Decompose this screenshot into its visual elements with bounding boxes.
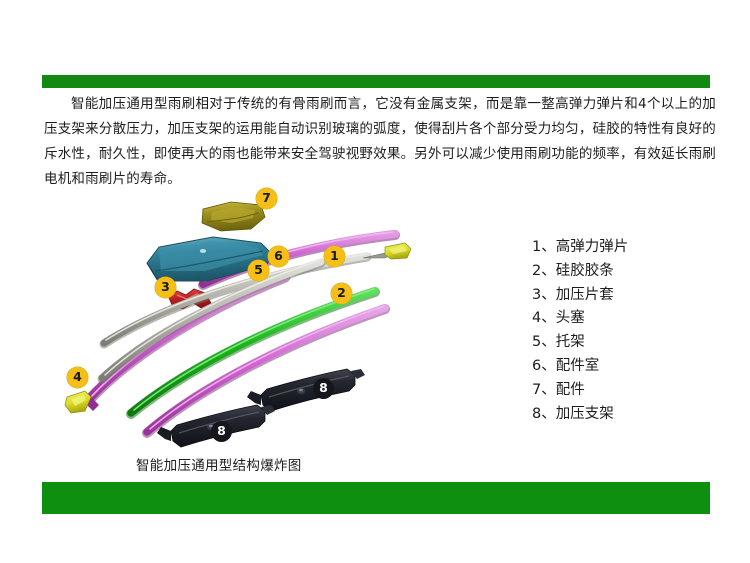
callout-badge-3[interactable]: 3 (155, 277, 176, 298)
callout-badge-6[interactable]: 6 (268, 246, 289, 267)
legend-item-5: 5、托架 (532, 331, 722, 355)
legend-label-8: 加压支架 (556, 406, 614, 422)
legend-item-1: 1、高弹力弹片 (532, 236, 722, 260)
legend-label-4: 头塞 (556, 310, 585, 326)
callout-badge-4[interactable]: 4 (67, 367, 88, 388)
callout-badge-2[interactable]: 2 (331, 283, 352, 304)
callout-badge-5[interactable]: 5 (248, 260, 269, 281)
callout-badge-1[interactable]: 1 (324, 246, 345, 267)
legend-number-3: 3、 (532, 287, 556, 303)
part-end-plug-right (385, 243, 411, 259)
legend-item-2: 2、硅胶胶条 (532, 260, 722, 284)
legend-label-3: 加压片套 (556, 287, 614, 303)
diagram-caption: 智能加压通用型结构爆炸图 (136, 454, 302, 474)
callout-badge-8-lower[interactable]: 8 (211, 421, 232, 442)
legend-number-8: 8、 (532, 406, 556, 422)
legend-item-7: 7、配件 (532, 379, 722, 403)
legend-label-5: 托架 (556, 334, 585, 350)
legend-number-1: 1、 (532, 239, 556, 255)
legend-label-1: 高弹力弹片 (556, 239, 629, 255)
legend-label-2: 硅胶胶条 (556, 263, 614, 279)
callout-badge-8-upper[interactable]: 8 (313, 378, 334, 399)
legend-number-6: 6、 (532, 358, 556, 374)
top-green-divider (42, 75, 710, 88)
bottom-green-divider (42, 482, 710, 514)
legend-number-7: 7、 (532, 382, 556, 398)
exploded-diagram (55, 185, 475, 450)
legend-number-4: 4、 (532, 310, 556, 326)
product-description-page: 智能加压通用型雨刷相对于传统的有骨雨刷而言，它没有金属支架，而是靠一整高弹力弹片… (0, 0, 750, 563)
legend-label-7: 配件 (556, 382, 585, 398)
legend-item-6: 6、配件室 (532, 355, 722, 379)
legend-item-4: 4、头塞 (532, 307, 722, 331)
legend-number-2: 2、 (532, 263, 556, 279)
part-pressure-support-bracket-upper (247, 369, 365, 411)
part-end-plug-left (65, 391, 91, 413)
legend-item-8: 8、加压支架 (532, 403, 722, 427)
part-accessory-piece (202, 202, 265, 231)
intro-paragraph: 智能加压通用型雨刷相对于传统的有骨雨刷而言，它没有金属支架，而是靠一整高弹力弹片… (44, 92, 716, 192)
legend-number-5: 5、 (532, 334, 556, 350)
legend-item-3: 3、加压片套 (532, 284, 722, 308)
legend-label-6: 配件室 (556, 358, 600, 374)
callout-badge-7[interactable]: 7 (256, 188, 277, 209)
parts-legend: 1、高弹力弹片 2、硅胶胶条 3、加压片套 4、头塞 5、托架 6、配件室 7、… (532, 236, 722, 426)
